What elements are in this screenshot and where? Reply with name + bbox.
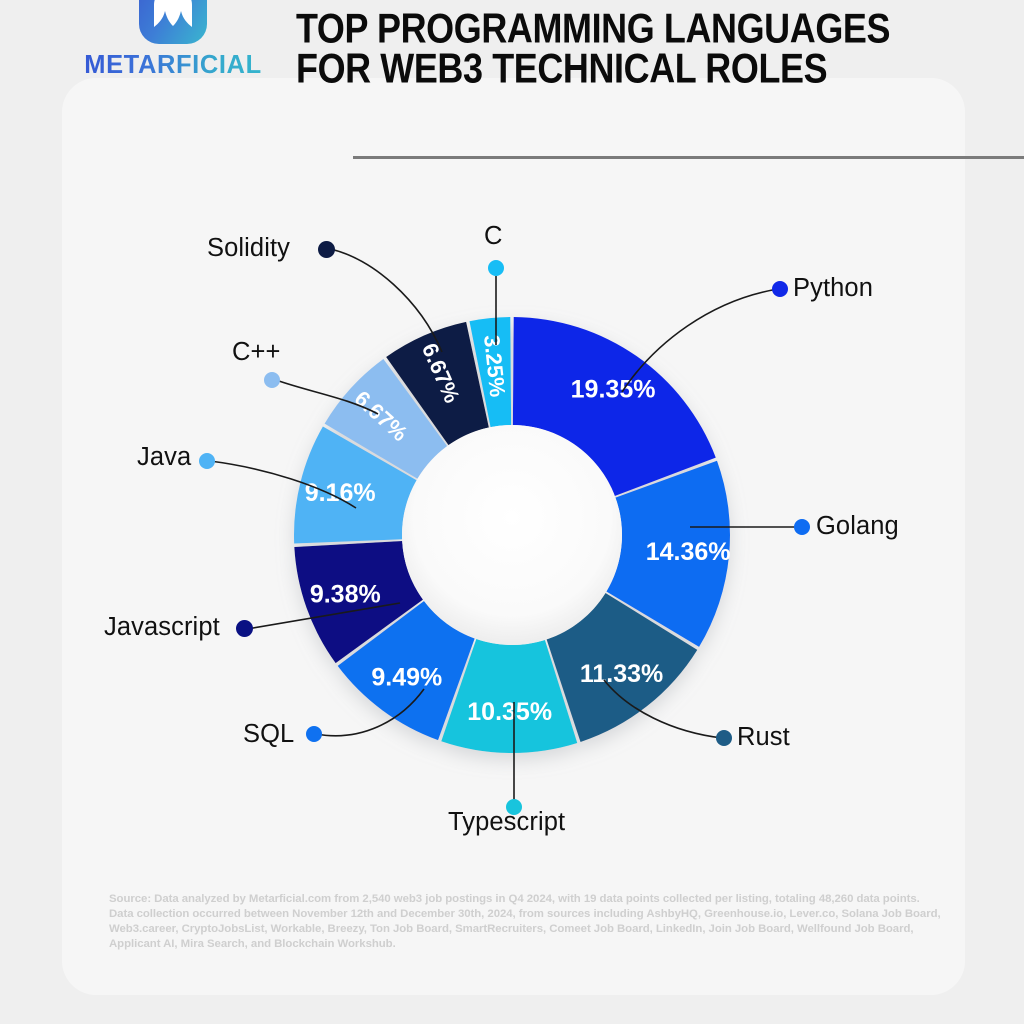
callout-dot-java	[199, 453, 215, 469]
donut-hole	[402, 425, 622, 645]
callout-dot-rust	[716, 730, 732, 746]
donut-chart: 19.35%14.36%11.33%10.35%9.49%9.38%9.16%6…	[0, 0, 1024, 1024]
callout-dot-python	[772, 281, 788, 297]
callout-label-rust: Rust	[737, 723, 790, 752]
donut-value-label: 19.35%	[571, 376, 656, 404]
callout-label-c: C	[484, 222, 503, 251]
callout-label-sql: SQL	[243, 720, 294, 749]
source-line-2: Data collection occurred between Novembe…	[109, 907, 949, 922]
callout-dot-cpp	[264, 372, 280, 388]
callout-dot-c	[488, 260, 504, 276]
donut-value-label: 9.16%	[305, 479, 376, 507]
donut-value-label: 14.36%	[646, 538, 731, 566]
callout-label-golang: Golang	[816, 512, 899, 541]
source-line-4: Applicant AI, Mira Search, and Blockchai…	[109, 937, 949, 952]
callout-dot-solidity	[318, 241, 335, 258]
callout-label-javascript: Javascript	[104, 613, 220, 642]
source-line-1: Source: Data analyzed by Metarficial.com…	[109, 892, 949, 907]
donut-value-label: 10.35%	[467, 698, 552, 726]
callout-label-typescript: Typescript	[448, 808, 565, 837]
callout-label-java: Java	[137, 443, 191, 472]
callout-label-python: Python	[793, 274, 873, 303]
callout-dot-javascript	[236, 620, 253, 637]
source-line-3: Web3.career, CryptoJobsList, Workable, B…	[109, 922, 949, 937]
source-note: Source: Data analyzed by Metarficial.com…	[109, 892, 949, 952]
callout-label-solidity: Solidity	[207, 234, 290, 263]
donut-value-label: 9.38%	[310, 580, 381, 608]
callout-dot-sql	[306, 726, 322, 742]
callout-label-cpp: C++	[232, 338, 281, 367]
callout-dot-golang	[794, 519, 810, 535]
infographic-root: METARFICIAL TOP PROGRAMMING LANGUAGES FO…	[0, 0, 1024, 1024]
donut-value-label: 9.49%	[371, 663, 442, 691]
donut-value-label: 11.33%	[580, 660, 663, 688]
